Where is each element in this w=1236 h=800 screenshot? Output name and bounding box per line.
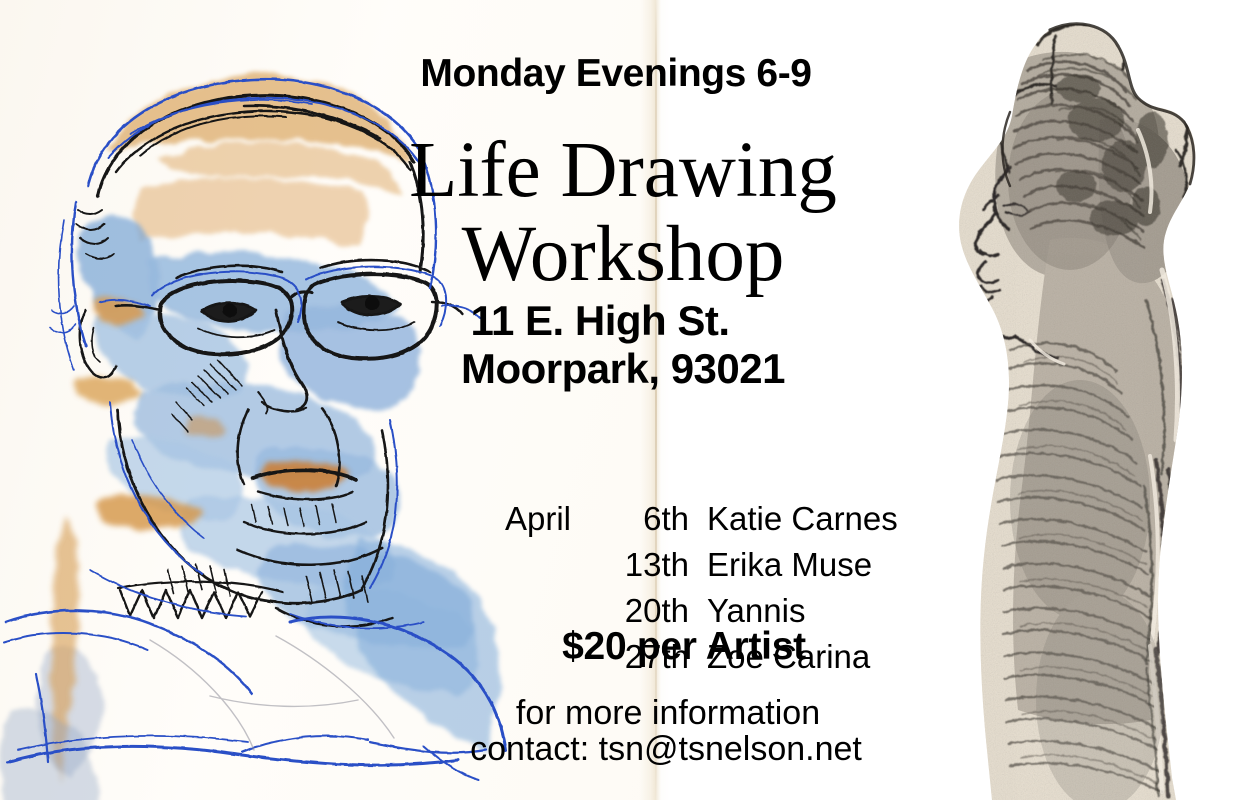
schedule-day: 13th [611, 544, 707, 590]
schedule-month: April [505, 498, 611, 544]
address-line-1: 11 E. High St. [0, 300, 1218, 342]
poster-canvas: Monday Evenings 6-9 Life DrawingWorkshop… [0, 0, 1236, 800]
page-title: Life DrawingWorkshop [5, 129, 1236, 296]
schedule-day: 6th [611, 498, 707, 544]
schedule-artist: Katie Carnes [707, 498, 898, 544]
address-line-2: Moorpark, 93021 [5, 348, 1236, 390]
price-text: $20 per Artist [66, 627, 1236, 666]
title-line-1: Life Drawing [409, 127, 837, 214]
schedule-month [505, 544, 611, 590]
title-line-2: Workshop [462, 211, 785, 298]
schedule-row: April 6th Katie Carnes [505, 498, 898, 544]
schedule-row: 13th Erika Muse [505, 544, 898, 590]
schedule-artist: Erika Muse [707, 544, 898, 590]
tagline-monday-evenings: Monday Evenings 6-9 [0, 54, 1234, 93]
contact-email-text: contact: tsn@tsnelson.net [48, 732, 1236, 766]
more-information-text: for more information [50, 696, 1236, 730]
